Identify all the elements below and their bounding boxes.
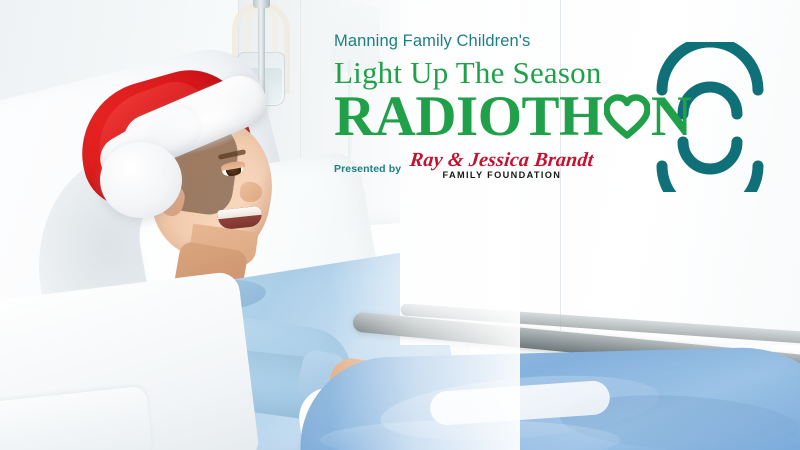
sponsor-name: Ray & Jessica Brandt <box>409 150 595 170</box>
kicker-text: Manning Family Children's <box>334 33 774 50</box>
santa-hat-pompom <box>100 142 182 218</box>
radiothon-lockup: Manning Family Children's Light Up The S… <box>334 33 774 195</box>
iv-pole-cap <box>253 0 270 8</box>
wordmark-part-mid: OTH <box>478 91 603 143</box>
wordmark-part-before: RADI <box>334 91 478 143</box>
heart-icon <box>604 94 650 140</box>
wordmark-part-after: N <box>651 91 692 143</box>
promo-banner: Manning Family Children's Light Up The S… <box>0 0 800 450</box>
presented-by-row: Presented by Ray & Jessica Brandt FAMILY… <box>334 150 774 180</box>
sponsor-logo: Ray & Jessica Brandt FAMILY FOUNDATION <box>410 150 593 180</box>
radiothon-wordmark: RADI OTH N <box>334 91 774 143</box>
wordmark-row: RADI OTH N <box>334 91 774 143</box>
presented-by-label: Presented by <box>334 163 401 180</box>
sponsor-subtitle: FAMILY FOUNDATION <box>410 171 593 180</box>
headline-text: Light Up The Season <box>334 57 774 88</box>
